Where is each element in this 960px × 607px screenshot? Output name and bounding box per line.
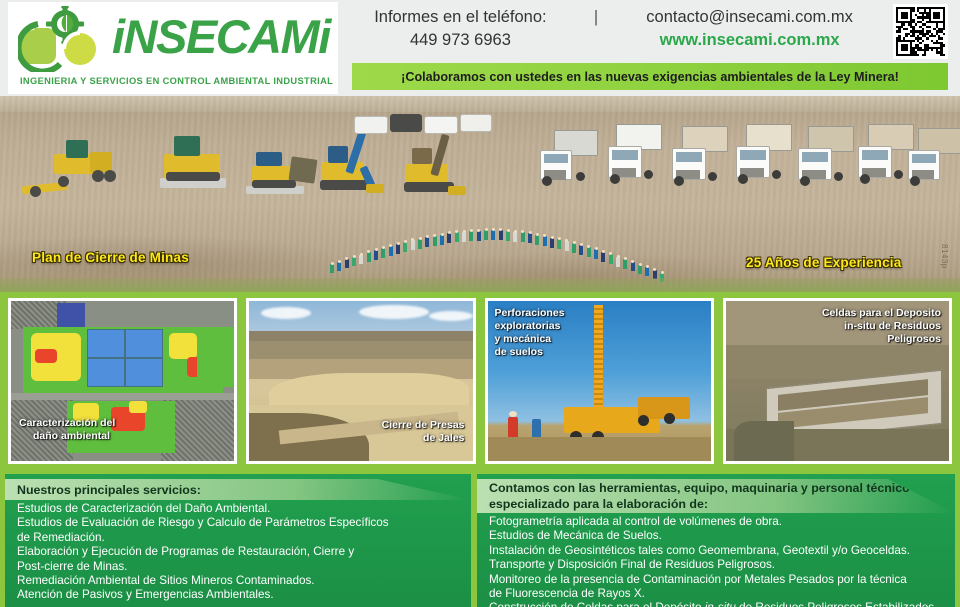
photo-tailings-dam-closure[interactable]: Cierre de Presas de Jales — [246, 298, 475, 464]
worker-figure — [440, 235, 444, 245]
worker-head — [661, 271, 664, 274]
photo-exploratory-drilling[interactable]: Perforaciones exploratorias y mecánica d… — [485, 298, 714, 464]
photo-1-caption: Caracterización del daño ambiental — [19, 417, 115, 443]
worker-head — [551, 236, 554, 239]
worker-figure — [499, 230, 503, 240]
qr-code-icon[interactable] — [893, 4, 948, 59]
list-item-last: Construcción de Celdas para el Depósito … — [489, 601, 945, 607]
worker-head — [617, 255, 620, 258]
hero-side-code: 8143p — [940, 244, 949, 269]
worker-head — [492, 228, 495, 231]
contact-row-primary: Informes en el teléfono: | contacto@inse… — [340, 8, 888, 27]
machine-excavator-1 — [306, 126, 402, 198]
worker-figure — [359, 255, 363, 264]
worker-figure — [513, 232, 517, 242]
worker-figure — [418, 239, 422, 249]
photo-gallery-row: Caracterización del daño ambiental Cierr… — [0, 292, 960, 470]
worker-head — [338, 260, 341, 263]
worker-figure — [462, 232, 466, 242]
worker-figure — [491, 230, 495, 240]
phone-label: Informes en el teléfono: — [344, 8, 576, 27]
worker-head — [514, 230, 517, 233]
worker-figure — [469, 231, 473, 241]
hero-caption-left: Plan de Cierre de Minas — [32, 250, 189, 265]
worker-figure — [337, 262, 341, 271]
photo-3-caption: Perforaciones exploratorias y mecánica d… — [495, 307, 565, 359]
worker-head — [507, 229, 510, 232]
dump-truck-5 — [796, 124, 858, 194]
worker-head — [331, 262, 334, 265]
worker-figure — [484, 230, 488, 240]
worker-head — [345, 257, 348, 260]
flyer-page: iNSECAMi INGENIERIA Y SERVICIOS EN CONTR… — [0, 0, 960, 607]
worker-figure — [447, 233, 451, 243]
worker-figure — [506, 231, 510, 241]
worker-head — [448, 231, 451, 234]
worker-figure — [381, 248, 385, 258]
services-right-heading: Contamos con las herramientas, equipo, m… — [477, 479, 955, 513]
photo-2-image: Cierre de Presas de Jales — [249, 301, 472, 461]
worker-head — [624, 257, 627, 260]
worker-figure — [403, 242, 407, 252]
worker-head — [360, 253, 363, 256]
worker-head — [353, 255, 356, 258]
worker-figure — [330, 264, 334, 273]
worker-head — [485, 228, 488, 231]
worker-head — [397, 242, 400, 245]
dump-truck-2 — [606, 122, 668, 192]
worker-head — [602, 250, 605, 253]
vehicle-pickup-1 — [354, 116, 388, 134]
last-item-pre: Construcción de Celdas para el Depósito — [489, 601, 705, 607]
worker-head — [558, 237, 561, 240]
worker-figure — [594, 249, 598, 259]
list-item: Elaboración y Ejecución de Programas de … — [17, 545, 461, 559]
worker-figure — [550, 238, 554, 248]
worker-head — [499, 228, 502, 231]
list-item: Estudios de Caracterización del Daño Amb… — [17, 502, 461, 516]
photo-environmental-characterization[interactable]: Caracterización del daño ambiental — [8, 298, 237, 464]
last-item-italic: in-situ — [705, 601, 736, 607]
worker-figure — [572, 243, 576, 253]
dump-truck-1 — [540, 126, 602, 192]
worker-figure — [616, 257, 620, 267]
photo-4-image: Celdas para el Deposito in-situ de Resid… — [726, 301, 949, 461]
last-item-post: de Residuos Peligrosos Estabilizados. — [736, 601, 937, 607]
worker-figure — [645, 267, 649, 276]
list-item: Fotogrametría aplicada al control de vol… — [489, 515, 945, 529]
vehicle-pickup-4 — [460, 114, 492, 132]
hero-caption-right: 25 Años de Experiencia — [746, 255, 901, 270]
worker-figure — [557, 239, 561, 249]
list-item: Estudios de Evaluación de Riesgo y Calcu… — [17, 516, 461, 530]
worker-head — [426, 235, 429, 238]
insecami-logo-icon — [18, 6, 114, 72]
worker-figure — [601, 252, 605, 262]
contact-separator: | — [581, 8, 611, 27]
worker-figure — [565, 241, 569, 251]
worker-figure — [455, 232, 459, 242]
worker-figure — [345, 259, 349, 268]
worker-head — [404, 240, 407, 243]
worker-head — [653, 268, 656, 271]
worker-head — [433, 234, 436, 237]
email-address[interactable]: contacto@insecami.com.mx — [616, 8, 884, 27]
worker-head — [631, 260, 634, 263]
worker-head — [463, 230, 466, 233]
worker-head — [389, 244, 392, 247]
list-item: de Remediación. — [17, 531, 461, 545]
worker-figure — [579, 245, 583, 255]
list-item: de Fluorescencia de Rayos X. — [489, 587, 945, 601]
header-banner-text: ¡Colaboramos con ustedes en las nuevas e… — [401, 70, 899, 84]
company-logo: iNSECAMi INGENIERIA Y SERVICIOS EN CONTR… — [8, 2, 338, 94]
worker-figure — [477, 231, 481, 241]
worker-head — [580, 243, 583, 246]
worker-head — [543, 234, 546, 237]
worker-head — [529, 231, 532, 234]
logo-tagline: INGENIERIA Y SERVICIOS EN CONTROL AMBIEN… — [20, 76, 333, 86]
machine-excavator-2 — [392, 130, 484, 200]
worker-figure — [396, 244, 400, 254]
logo-wordmark: iNSECAMi — [112, 6, 330, 68]
worker-head — [419, 237, 422, 240]
worker-figure — [638, 265, 642, 274]
machine-grader — [18, 136, 118, 198]
worker-figure — [521, 232, 525, 242]
worker-head — [639, 263, 642, 266]
worker-head — [536, 233, 539, 236]
list-item: Transporte y Disposición Final de Residu… — [489, 558, 945, 572]
worker-figure — [623, 259, 627, 269]
worker-head — [646, 265, 649, 268]
vehicle-pickup-3 — [424, 116, 458, 134]
worker-head — [441, 233, 444, 236]
worker-head — [367, 250, 370, 253]
header-contact-block: Informes en el teléfono: | contacto@inse… — [340, 0, 888, 60]
worker-figure — [425, 237, 429, 247]
photo-3-image: Perforaciones exploratorias y mecánica d… — [488, 301, 711, 461]
worker-head — [455, 230, 458, 233]
worker-head — [470, 229, 473, 232]
worker-head — [382, 246, 385, 249]
services-left-list: Estudios de Caracterización del Daño Amb… — [5, 502, 471, 603]
machine-bulldozer — [142, 134, 238, 198]
services-section: Nuestros principales servicios: Estudios… — [0, 470, 960, 607]
worker-head — [565, 239, 568, 242]
page-header: iNSECAMi INGENIERIA Y SERVICIOS EN CONTR… — [0, 0, 960, 96]
services-panel-left: Nuestros principales servicios: Estudios… — [5, 474, 471, 607]
photo-2-caption: Cierre de Presas de Jales — [382, 419, 465, 445]
phone-number[interactable]: 449 973 6963 — [344, 31, 576, 50]
contact-row-secondary: 449 973 6963 www.insecami.com.mx — [340, 31, 888, 50]
services-left-heading: Nuestros principales servicios: — [5, 479, 471, 500]
worker-figure — [543, 236, 547, 246]
services-panel-right: Contamos con las herramientas, equipo, m… — [477, 474, 955, 607]
photo-4-caption: Celdas para el Deposito in-situ de Resid… — [822, 307, 941, 346]
website-link[interactable]: www.insecami.com.mx — [616, 31, 884, 50]
worker-figure — [587, 247, 591, 257]
worker-head — [521, 230, 524, 233]
vehicle-pickup-2 — [390, 114, 422, 132]
list-item: Post-cierre de Minas. — [17, 560, 461, 574]
list-item: Remediación Ambiental de Sitios Mineros … — [17, 574, 461, 588]
worker-head — [375, 248, 378, 251]
worker-figure — [352, 257, 356, 266]
dump-truck-4 — [734, 122, 796, 192]
worker-head — [587, 245, 590, 248]
worker-head — [477, 229, 480, 232]
list-item: Atención de Pasivos y Emergencias Ambien… — [17, 588, 461, 602]
worker-figure — [609, 254, 613, 264]
worker-head — [411, 238, 414, 241]
worker-figure — [411, 240, 415, 250]
worker-figure — [374, 250, 378, 260]
hero-lower-edge — [0, 278, 960, 292]
list-item: Estudios de Mecánica de Suelos. — [489, 529, 945, 543]
worker-figure — [631, 262, 635, 271]
worker-figure — [367, 252, 371, 262]
worker-figure — [528, 233, 532, 243]
dump-truck-7 — [908, 126, 960, 194]
header-green-banner: ¡Colaboramos con ustedes en las nuevas e… — [352, 63, 948, 90]
services-left-title: Nuestros principales servicios: — [5, 483, 201, 497]
dump-truck-3 — [670, 124, 732, 194]
services-right-title: Contamos con las herramientas, equipo, m… — [477, 479, 955, 512]
photo-1-image: Caracterización del daño ambiental — [11, 301, 234, 461]
photo-hazardous-waste-cells[interactable]: Celdas para el Deposito in-situ de Resid… — [723, 298, 952, 464]
list-item: Monitoreo de la presencia de Contaminaci… — [489, 573, 945, 587]
worker-head — [595, 247, 598, 250]
worker-head — [609, 252, 612, 255]
services-right-list: Fotogrametría aplicada al control de vol… — [477, 515, 955, 607]
worker-head — [573, 241, 576, 244]
worker-figure — [389, 246, 393, 256]
worker-figure — [433, 236, 437, 246]
list-item: Instalación de Geosintéticos tales como … — [489, 544, 945, 558]
worker-figure — [535, 235, 539, 245]
